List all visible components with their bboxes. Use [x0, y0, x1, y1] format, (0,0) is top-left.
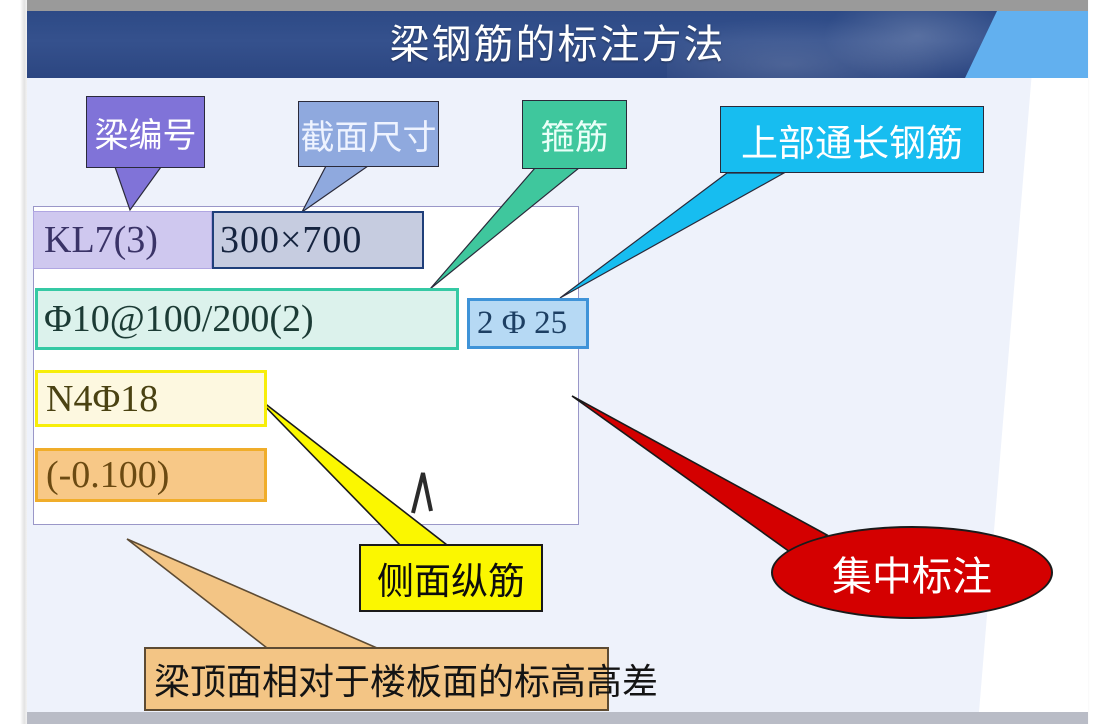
callout-top-through-bars[interactable]: 上部通长钢筋	[720, 106, 984, 173]
right-gutter	[1088, 0, 1104, 724]
callout-centralized-note[interactable]: 集中标注	[771, 526, 1053, 619]
bottom-strip	[27, 712, 1088, 724]
callout-stirrup[interactable]: 箍筋	[522, 100, 627, 169]
side-bars-chip[interactable]: N4Φ18	[35, 370, 267, 427]
beam-number-chip[interactable]: KL7(3)	[33, 211, 212, 269]
left-gutter-shadow	[20, 0, 27, 724]
stirrup-spec-chip[interactable]: Φ10@100/200(2)	[35, 288, 459, 350]
callout-section-size[interactable]: 截面尺寸	[298, 101, 439, 167]
slide-canvas: 梁钢筋的标注方法 KL7(3) 300×700 Φ10@100/200	[27, 11, 1088, 712]
page-title: 梁钢筋的标注方法	[27, 11, 1088, 78]
callout-elevation-diff[interactable]: 梁顶面相对于楼板面的标高高差	[144, 647, 609, 711]
callout-beam-number[interactable]: 梁编号	[86, 96, 205, 168]
callout-side-bars[interactable]: 侧面纵筋	[359, 544, 543, 612]
top-strip	[27, 0, 1088, 11]
section-size-chip[interactable]: 300×700	[212, 211, 424, 269]
top-through-bars-chip[interactable]: 2 Φ 25	[467, 298, 589, 349]
slide-viewer: 梁钢筋的标注方法 KL7(3) 300×700 Φ10@100/200	[0, 0, 1104, 724]
elevation-diff-chip[interactable]: (-0.100)	[35, 448, 267, 502]
